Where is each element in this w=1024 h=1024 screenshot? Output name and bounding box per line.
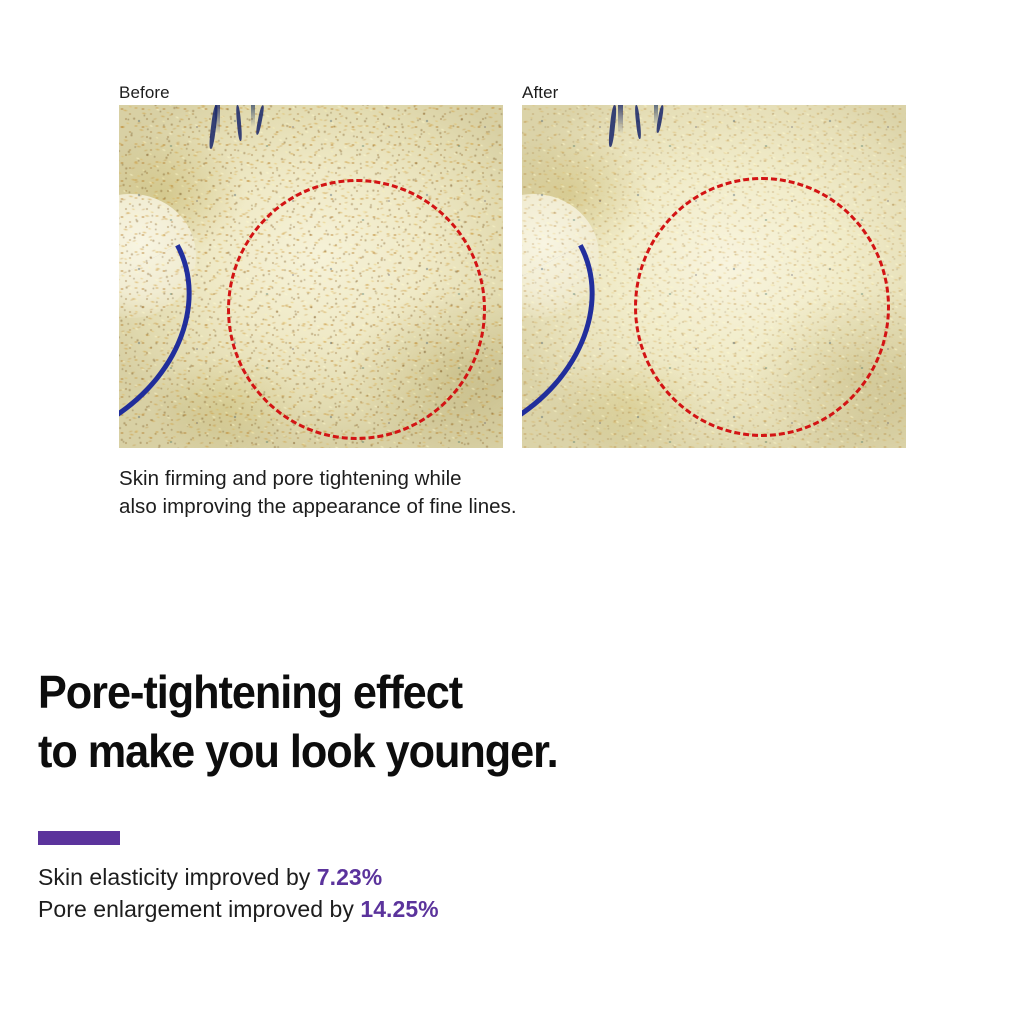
top-edge-streaks [119,105,503,161]
caption-line-1: Skin firming and pore tightening while [119,465,906,493]
stats-list: Skin elasticity improved by 7.23% Pore e… [38,861,439,925]
purple-accent-bar [38,831,120,845]
caption-line-2: also improving the appearance of fine li… [119,493,906,521]
stat-label: Pore enlargement improved by [38,896,354,922]
page-headline: Pore-tightening effect to make you look … [38,663,558,781]
before-skin-photo [119,105,503,448]
after-marker-circle [634,177,890,437]
after-skin-photo [522,105,906,448]
after-panel: After [522,82,906,448]
stat-value: 7.23% [317,864,382,890]
stat-row: Skin elasticity improved by 7.23% [38,861,439,893]
stat-value: 14.25% [360,896,438,922]
after-label: After [522,82,906,103]
before-marker-circle [227,179,486,440]
before-after-comparison: Before After [119,82,906,521]
before-label: Before [119,82,503,103]
stat-row: Pore enlargement improved by 14.25% [38,893,439,925]
comparison-row: Before After [119,82,906,448]
stat-label: Skin elasticity improved by [38,864,310,890]
before-panel: Before [119,82,503,448]
comparison-caption: Skin firming and pore tightening while a… [119,465,906,521]
top-edge-streaks [522,105,906,161]
